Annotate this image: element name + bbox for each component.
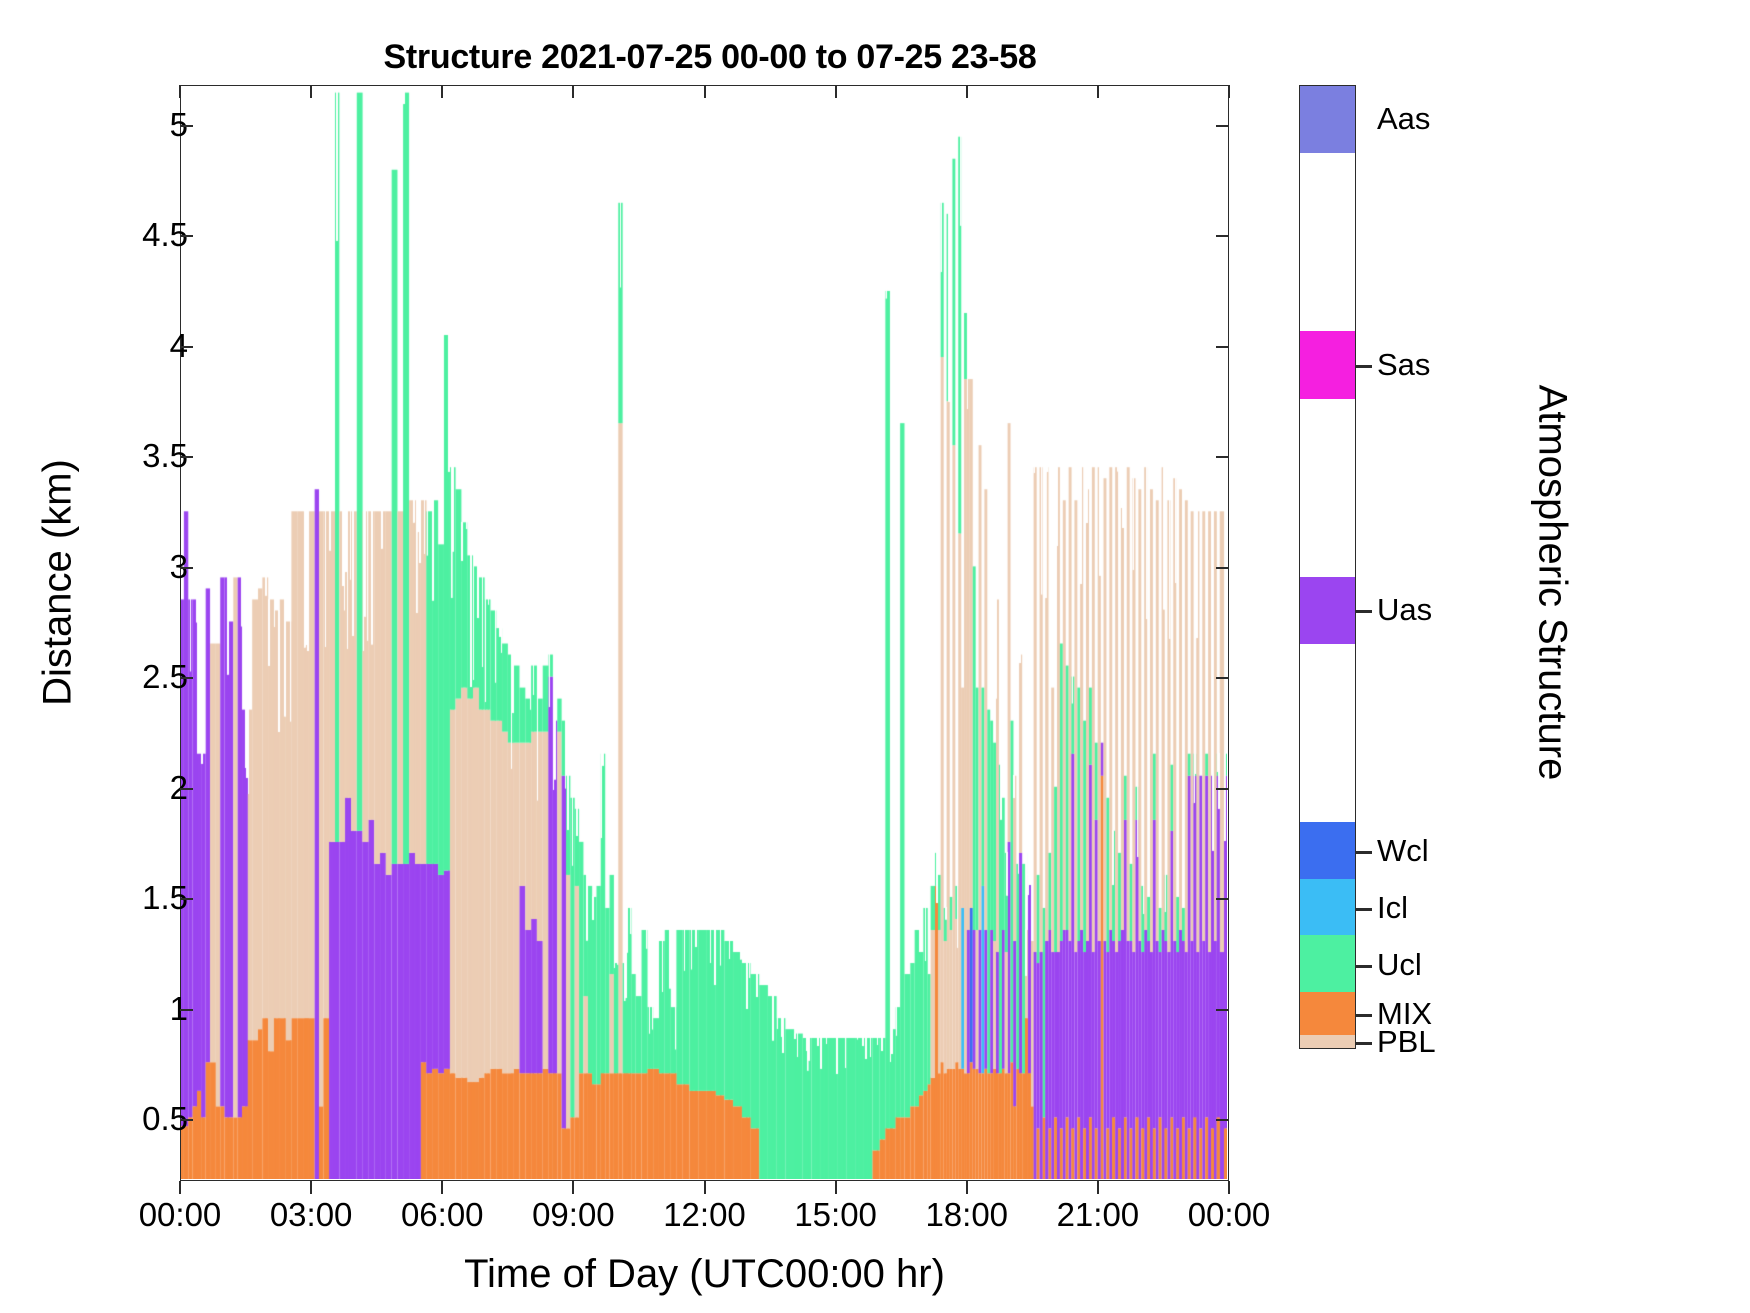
y-tick-mark — [180, 567, 193, 569]
y-tick-mark — [1216, 898, 1229, 900]
colorbar-title: Atmospheric Structure — [1530, 263, 1575, 903]
x-tick-mark — [704, 1181, 706, 1194]
colorbar-segment-wcl[interactable] — [1300, 822, 1355, 879]
colorbar-tick — [1356, 908, 1372, 911]
x-tick-mark — [179, 1181, 181, 1194]
y-tick-mark — [1216, 1119, 1229, 1121]
x-tick-mark — [966, 1181, 968, 1194]
y-tick-label: 2.5 — [68, 660, 188, 693]
colorbar-label-sas: Sas — [1377, 349, 1430, 380]
y-tick-label: 5 — [68, 108, 188, 141]
y-tick-mark — [1216, 677, 1229, 679]
colorbar-segment-mix[interactable] — [1300, 992, 1355, 1034]
plot-area — [180, 85, 1229, 1181]
x-axis-title: Time of Day (UTC00:00 hr) — [180, 1252, 1229, 1297]
x-tick-mark — [1228, 1181, 1230, 1194]
y-tick-mark — [1216, 788, 1229, 790]
colorbar-segment-ucl[interactable] — [1300, 935, 1355, 992]
colorbar-label-uas: Uas — [1377, 594, 1432, 625]
colorbar-tick — [1356, 965, 1372, 968]
y-tick-mark — [1216, 235, 1229, 237]
y-tick-mark — [1216, 1009, 1229, 1011]
x-tick-mark — [572, 85, 574, 98]
y-tick-mark — [180, 346, 193, 348]
x-tick-mark — [1228, 85, 1230, 98]
structure-profile-canvas — [181, 86, 1227, 1179]
colorbar-label-icl: Icl — [1377, 892, 1408, 923]
x-tick-label: 00:00 — [1139, 1196, 1319, 1234]
x-tick-mark — [441, 1181, 443, 1194]
colorbar-label-pbl: PBL — [1377, 1026, 1436, 1057]
y-tick-label: 1 — [68, 992, 188, 1025]
y-tick-mark — [180, 456, 193, 458]
y-tick-mark — [1216, 125, 1229, 127]
x-tick-mark — [310, 85, 312, 98]
y-tick-label: 2 — [68, 771, 188, 804]
colorbar-label-wcl: Wcl — [1377, 835, 1429, 866]
y-tick-mark — [180, 898, 193, 900]
y-tick-mark — [180, 1119, 193, 1121]
y-tick-label: 3 — [68, 550, 188, 583]
x-tick-mark — [1097, 1181, 1099, 1194]
y-tick-label: 4 — [68, 329, 188, 362]
colorbar-tick — [1356, 851, 1372, 854]
y-tick-mark — [180, 677, 193, 679]
colorbar-segment-sas[interactable] — [1300, 331, 1355, 398]
y-tick-mark — [1216, 567, 1229, 569]
x-tick-mark — [966, 85, 968, 98]
y-tick-label: 1.5 — [68, 881, 188, 914]
colorbar-tick — [1356, 365, 1372, 368]
page-title: Structure 2021-07-25 00-00 to 07-25 23-5… — [180, 38, 1240, 77]
x-tick-mark — [1097, 85, 1099, 98]
y-tick-mark — [1216, 346, 1229, 348]
y-tick-mark — [180, 788, 193, 790]
x-tick-mark — [572, 1181, 574, 1194]
y-tick-label: 0.5 — [68, 1102, 188, 1135]
x-tick-mark — [835, 1181, 837, 1194]
x-tick-mark — [704, 85, 706, 98]
colorbar-tick — [1356, 610, 1372, 613]
y-tick-mark — [180, 125, 193, 127]
colorbar-segment-icl[interactable] — [1300, 879, 1355, 936]
colorbar[interactable] — [1299, 85, 1356, 1049]
colorbar-segment-pbl[interactable] — [1300, 1035, 1355, 1048]
colorbar-segment-aas[interactable] — [1300, 86, 1355, 153]
x-tick-mark — [179, 85, 181, 98]
colorbar-label-aas: Aas — [1377, 103, 1430, 134]
colorbar-label-ucl: Ucl — [1377, 949, 1422, 980]
colorbar-segment-uas[interactable] — [1300, 577, 1355, 644]
y-tick-label: 3.5 — [68, 439, 188, 472]
y-tick-label: 4.5 — [68, 218, 188, 251]
colorbar-tick — [1356, 1014, 1372, 1017]
y-tick-mark — [180, 1009, 193, 1011]
atmospheric-structure-figure: Structure 2021-07-25 00-00 to 07-25 23-5… — [0, 0, 1750, 1313]
x-tick-mark — [310, 1181, 312, 1194]
y-tick-mark — [1216, 456, 1229, 458]
x-tick-mark — [441, 85, 443, 98]
x-tick-mark — [835, 85, 837, 98]
y-tick-mark — [180, 235, 193, 237]
colorbar-tick — [1356, 1042, 1372, 1045]
